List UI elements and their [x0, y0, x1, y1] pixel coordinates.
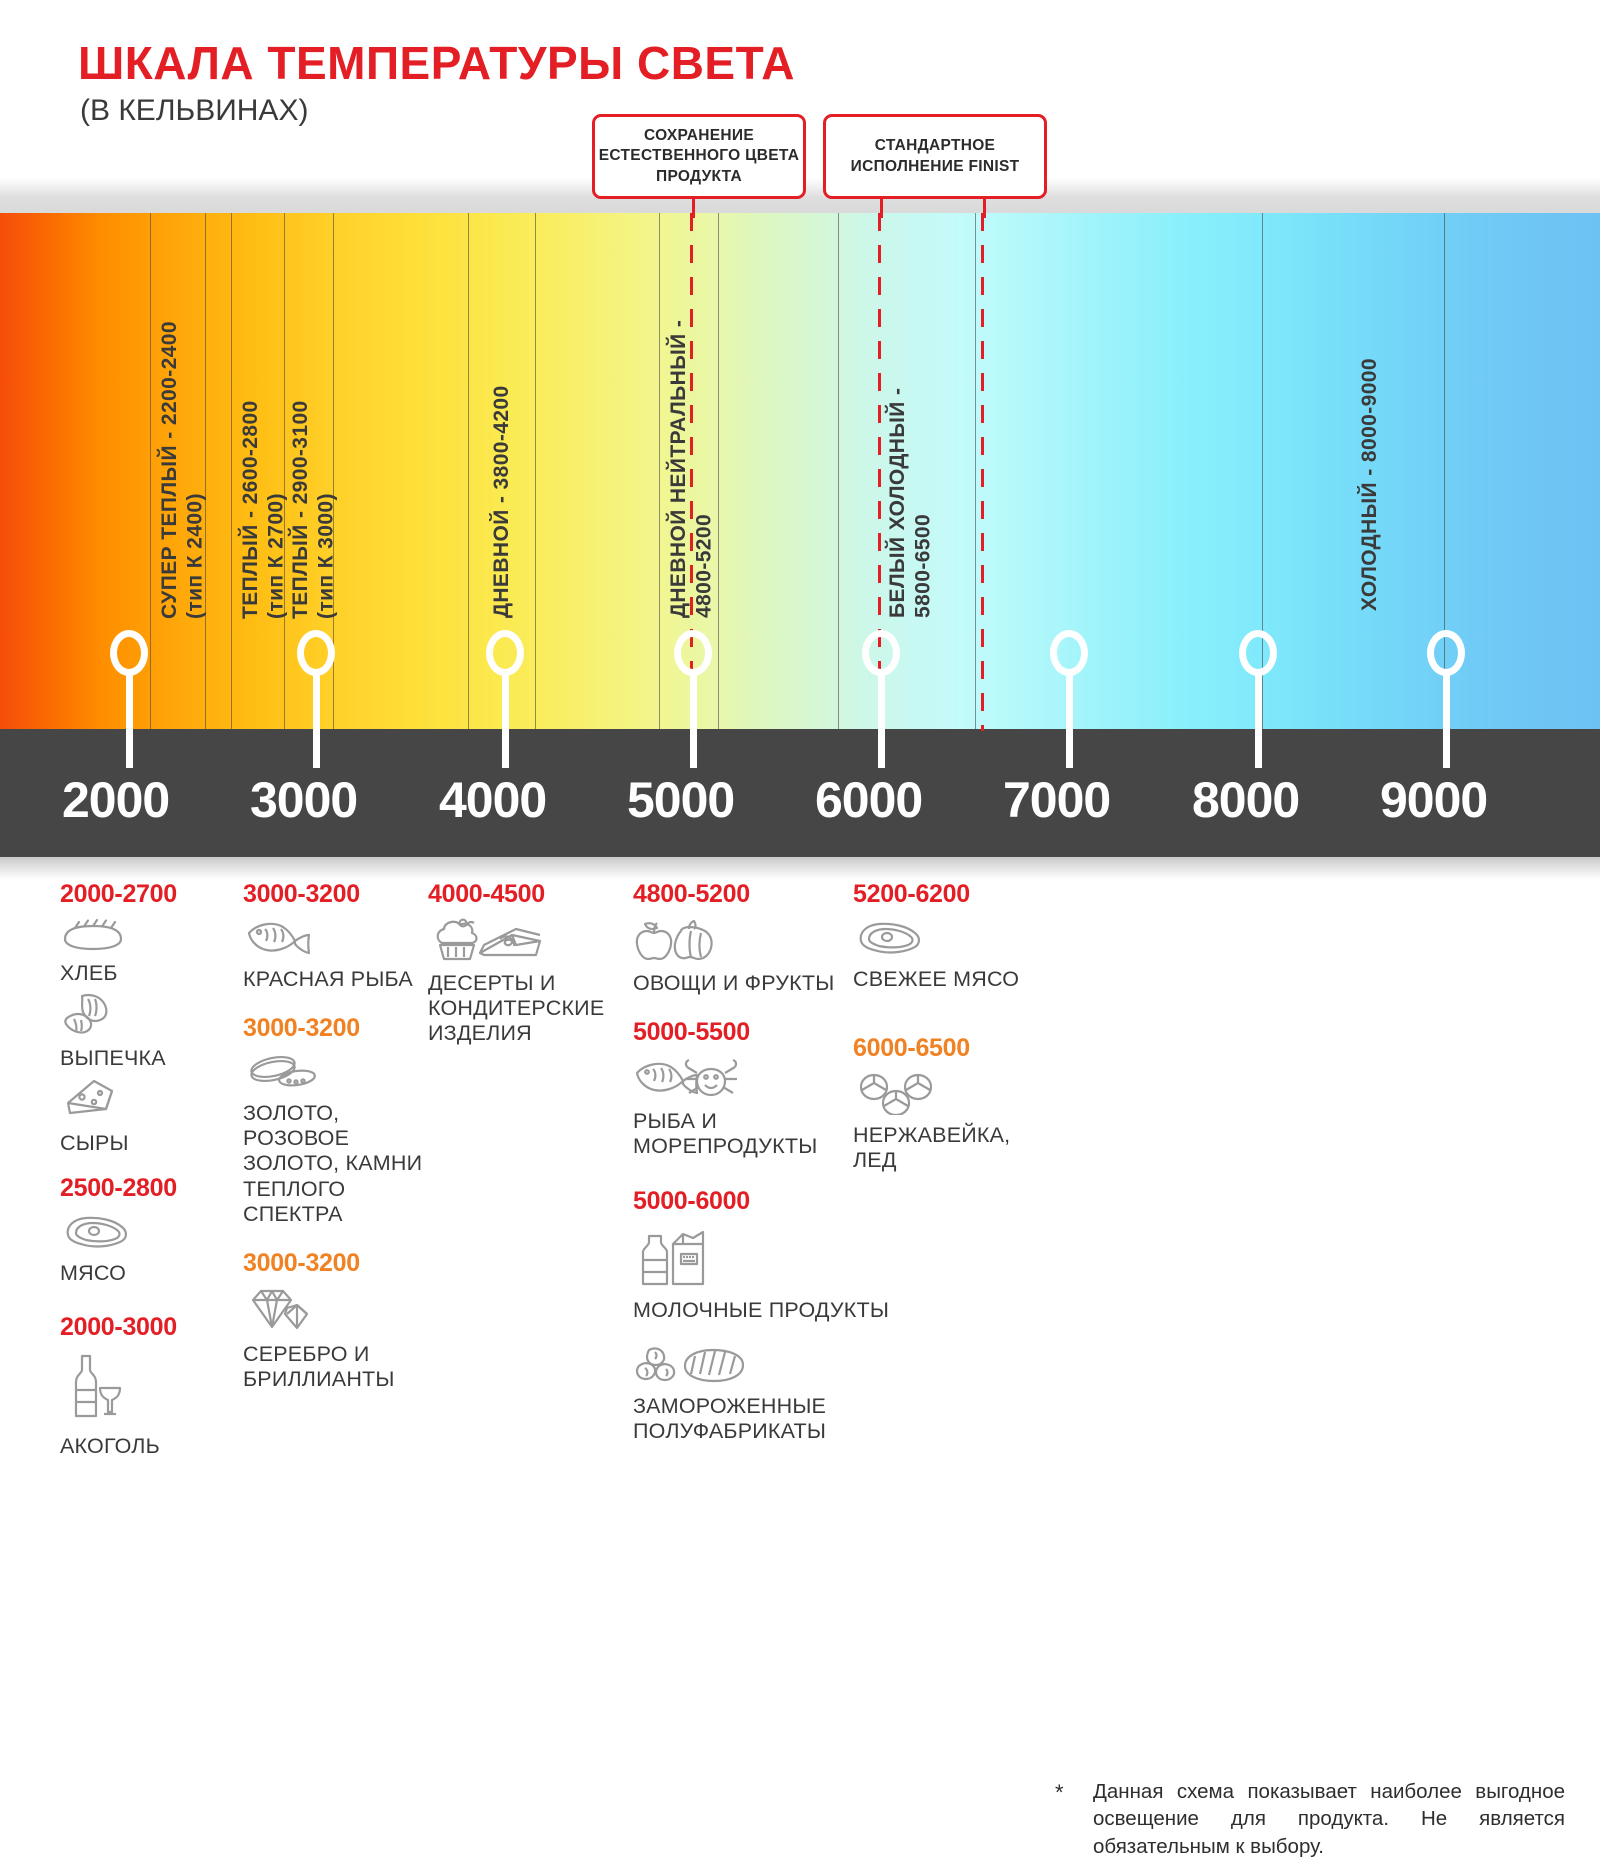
scale-number-7000: 7000	[1003, 771, 1110, 829]
legend-group: 4000-4500 ДЕСЕРТЫ И КОНДИТЕРСКИЕ ИЗДЕЛИЯ	[428, 880, 618, 1046]
callout-natural-color: СОХРАНЕНИЕ ЕСТЕСТВЕННОГО ЦВЕТА ПРОДУКТА	[592, 114, 806, 199]
legend-group: 3000-3200 КРАСНАЯ РЫБА	[243, 880, 433, 992]
list-item-label: АКОГОЛЬ	[60, 1434, 235, 1459]
alcohol-icon	[60, 1350, 235, 1431]
range-label: 2500-2800	[60, 1174, 235, 1203]
diamond-icon	[243, 1286, 433, 1339]
range-label: 5000-6000	[633, 1187, 848, 1216]
croissant-icon	[60, 990, 235, 1043]
list-item-label: КРАСНАЯ РЫБА	[243, 967, 433, 992]
legend-column-4: 4800-5200 ОВОЩИ И ФРУКТЫ 5000-5500	[633, 880, 848, 1448]
list-item: ВЫПЕЧКА	[60, 990, 235, 1071]
seafood-icon	[633, 1055, 848, 1106]
legend-group: 4800-5200 ОВОЩИ И ФРУКТЫ	[633, 880, 848, 996]
scale-number-8000: 8000	[1192, 771, 1299, 829]
range-label: 2000-3000	[60, 1313, 235, 1342]
legend-column-1: 2000-2700 ХЛЕБ ВЫПЕЧКА	[60, 880, 235, 1463]
footnote-text: Данная схема показывает наиболее выгодно…	[1093, 1778, 1565, 1860]
list-item: ХЛЕБ	[60, 917, 235, 986]
list-item-label: ХЛЕБ	[60, 961, 235, 986]
list-item-label: НЕРЖАВЕЙКА, ЛЕД	[853, 1123, 1043, 1173]
range-label: 3000-3200	[243, 1249, 433, 1278]
red-marker-6500	[981, 213, 984, 731]
legend-column-2: 3000-3200 КРАСНАЯ РЫБА 3000-3200	[243, 880, 433, 1396]
legend: 2000-2700 ХЛЕБ ВЫПЕЧКА	[0, 880, 1600, 1600]
band-label-warm-3000: ТЕПЛЫЙ - 2900-3100(тип К 3000)	[288, 331, 339, 619]
range-label: 5200-6200	[853, 880, 1043, 909]
list-item-label: СЕРЕБРО И БРИЛЛИАНТЫ	[243, 1342, 433, 1392]
ice-icon	[853, 1071, 1043, 1120]
scale-bar-shadow	[0, 857, 1600, 879]
list-item-label: РЫБА И МОРЕПРОДУКТЫ	[633, 1109, 848, 1159]
range-label: 6000-6500	[853, 1034, 1043, 1063]
range-label: 5000-5500	[633, 1018, 848, 1047]
list-item: ОВОЩИ И ФРУКТЫ	[633, 917, 848, 996]
list-item: ЗАМОРОЖЕННЫЕ ПОЛУФАБРИКАТЫ	[633, 1340, 848, 1444]
list-item-label: ОВОЩИ И ФРУКТЫ	[633, 971, 848, 996]
band-label-daylight: ДНЕВНОЙ - 3800-4200	[490, 318, 514, 618]
list-item-label: СВЕЖЕЕ МЯСО	[853, 967, 1043, 992]
band-divider	[659, 213, 660, 731]
frozen-icon	[633, 1340, 848, 1391]
legend-group: 3000-3200 СЕРЕБРО И БРИЛЛИАНТЫ	[243, 1249, 433, 1392]
callout-standard-finist: СТАНДАРТНОЕ ИСПОЛНЕНИЕ FINIST	[823, 114, 1047, 199]
legend-group: 3000-3200 ЗОЛОТО, РОЗОВОЕ ЗОЛОТО, КАМНИ …	[243, 1014, 433, 1227]
list-item: МЯСО	[60, 1211, 235, 1286]
band-label-warm-2700: ТЕПЛЫЙ - 2600-2800(тип К 2700)	[238, 331, 289, 619]
scale-number-3000: 3000	[250, 771, 357, 829]
list-item-label: СЫРЫ	[60, 1131, 235, 1156]
steak-icon	[60, 1211, 235, 1258]
list-item: НЕРЖАВЕЙКА, ЛЕД	[853, 1071, 1043, 1173]
bread-icon	[60, 917, 235, 958]
cheese-icon	[60, 1075, 235, 1128]
range-label: 4800-5200	[633, 880, 848, 909]
scale-number-4000: 4000	[439, 771, 546, 829]
scale-number-6000: 6000	[815, 771, 922, 829]
footnote: * Данная схема показывает наиболее выгод…	[1055, 1778, 1565, 1860]
band-divider	[718, 213, 719, 731]
range-label: 4000-4500	[428, 880, 618, 909]
legend-group: 6000-6500 НЕРЖАВЕЙКА, ЛЕД	[853, 1034, 1043, 1173]
range-label: 3000-3200	[243, 1014, 433, 1043]
legend-group: 5200-6200 СВЕЖЕЕ МЯСО	[853, 880, 1043, 992]
list-item: СЕРЕБРО И БРИЛЛИАНТЫ	[243, 1286, 433, 1392]
list-item-label: МЯСО	[60, 1261, 235, 1286]
legend-column-5: 5200-6200 СВЕЖЕЕ МЯСО 6000-6500	[853, 880, 1043, 1177]
spectrum-scale: СУПЕР ТЕПЛЫЙ - 2200-2400(тип К 2400) ТЕП…	[0, 213, 1600, 731]
list-item-label: ДЕСЕРТЫ И КОНДИТЕРСКИЕ ИЗДЕЛИЯ	[428, 971, 618, 1046]
page-title: ШКАЛА ТЕМПЕРАТУРЫ СВЕТА	[78, 36, 795, 90]
list-item-label: ВЫПЕЧКА	[60, 1046, 235, 1071]
legend-group: 2000-3000 АКОГОЛЬ	[60, 1313, 235, 1459]
band-label-super-warm: СУПЕР ТЕПЛЫЙ - 2200-2400(тип К 2400)	[157, 231, 208, 619]
band-label-white-cold: БЕЛЫЙ ХОЛОДНЫЙ -5800-6500	[885, 308, 936, 618]
scale-bar	[0, 729, 1600, 857]
range-label: 3000-3200	[243, 880, 433, 909]
fish-icon	[243, 917, 433, 964]
band-divider	[535, 213, 536, 731]
band-divider	[468, 213, 469, 731]
scale-number-9000: 9000	[1380, 771, 1487, 829]
legend-column-3: 4000-4500 ДЕСЕРТЫ И КОНДИТЕРСКИЕ ИЗДЕЛИЯ	[428, 880, 618, 1050]
band-divider	[838, 213, 839, 731]
rings-icon	[243, 1051, 433, 1098]
scale-number-5000: 5000	[627, 771, 734, 829]
range-label: 2000-2700	[60, 880, 235, 909]
dessert-icon	[428, 917, 618, 968]
fresh-meat-icon	[853, 917, 1043, 964]
list-item-label: МОЛОЧНЫЕ ПРОДУКТЫ	[633, 1298, 848, 1323]
band-divider	[231, 213, 232, 731]
list-item: КРАСНАЯ РЫБА	[243, 917, 433, 992]
legend-group: 2500-2800 МЯСО	[60, 1174, 235, 1286]
list-item: АКОГОЛЬ	[60, 1350, 235, 1459]
milk-icon	[633, 1224, 848, 1295]
band-label-cold: ХОЛОДНЫЙ - 8000-9000	[1358, 311, 1382, 611]
list-item: ЗОЛОТО, РОЗОВОЕ ЗОЛОТО, КАМНИ ТЕПЛОГО СП…	[243, 1051, 433, 1227]
legend-group: 5000-5500 РЫБА И МОРЕПРОДУКТЫ	[633, 1018, 848, 1159]
legend-group: 5000-6000 МОЛОЧНЫЕ ПРОДУКТЫ	[633, 1187, 848, 1443]
list-item: ДЕСЕРТЫ И КОНДИТЕРСКИЕ ИЗДЕЛИЯ	[428, 917, 618, 1046]
footnote-marker: *	[1055, 1778, 1064, 1807]
list-item-label: ЗОЛОТО, РОЗОВОЕ ЗОЛОТО, КАМНИ ТЕПЛОГО СП…	[243, 1101, 433, 1227]
list-item: РЫБА И МОРЕПРОДУКТЫ	[633, 1055, 848, 1159]
band-divider	[975, 213, 976, 731]
legend-group: 2000-2700 ХЛЕБ ВЫПЕЧКА	[60, 880, 235, 1156]
list-item: СЫРЫ	[60, 1075, 235, 1156]
scale-number-2000: 2000	[62, 771, 169, 829]
vegetables-icon	[633, 917, 848, 968]
list-item-label: ЗАМОРОЖЕННЫЕ ПОЛУФАБРИКАТЫ	[633, 1394, 848, 1444]
list-item: МОЛОЧНЫЕ ПРОДУКТЫ	[633, 1224, 848, 1323]
band-divider	[150, 213, 151, 731]
page-subtitle: (В КЕЛЬВИНАХ)	[80, 94, 308, 128]
list-item: СВЕЖЕЕ МЯСО	[853, 917, 1043, 992]
